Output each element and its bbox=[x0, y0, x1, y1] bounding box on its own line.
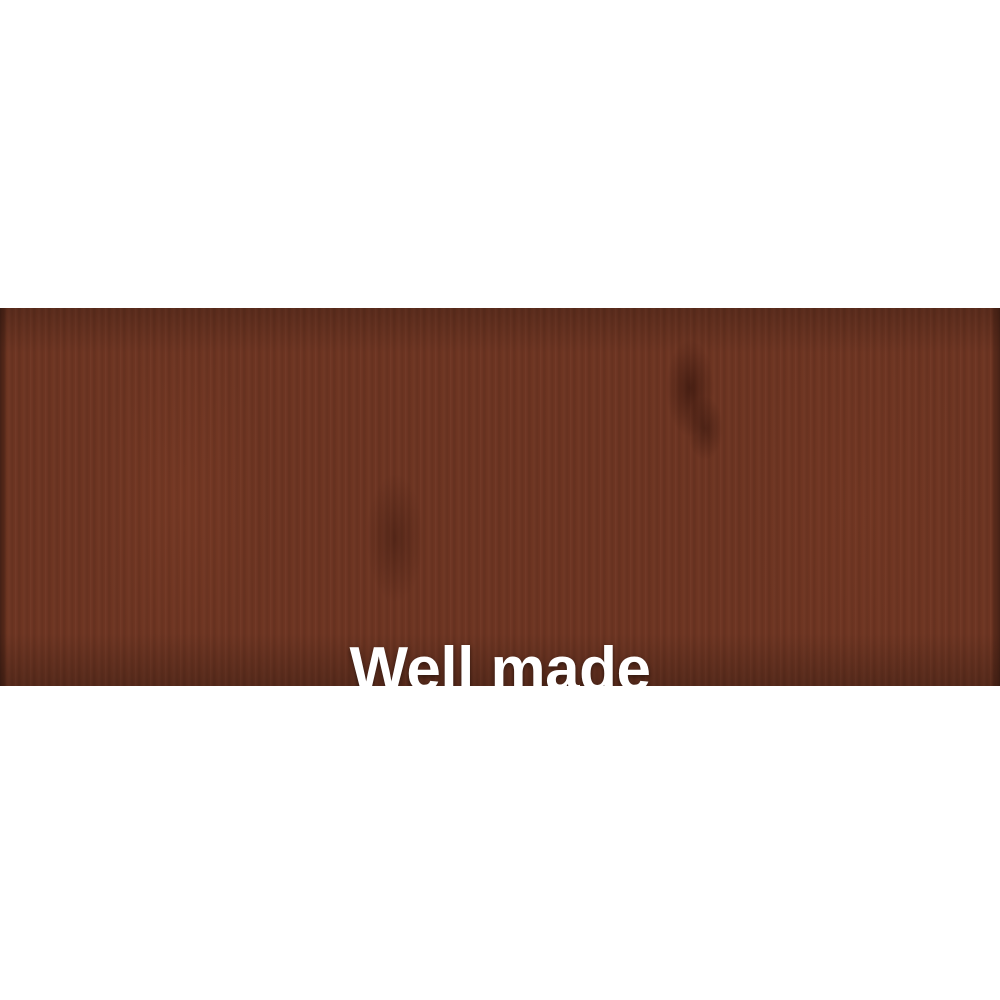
product-feature-banner-canvas: Well made E1 MDF board construction Heat… bbox=[0, 0, 1000, 1000]
banner-title: Well made bbox=[0, 638, 1000, 686]
wood-grain-edge-bands bbox=[0, 308, 1000, 686]
banner-headings: Well made E1 MDF board construction bbox=[0, 638, 1000, 686]
wood-banner: Well made E1 MDF board construction Heat… bbox=[0, 308, 1000, 686]
